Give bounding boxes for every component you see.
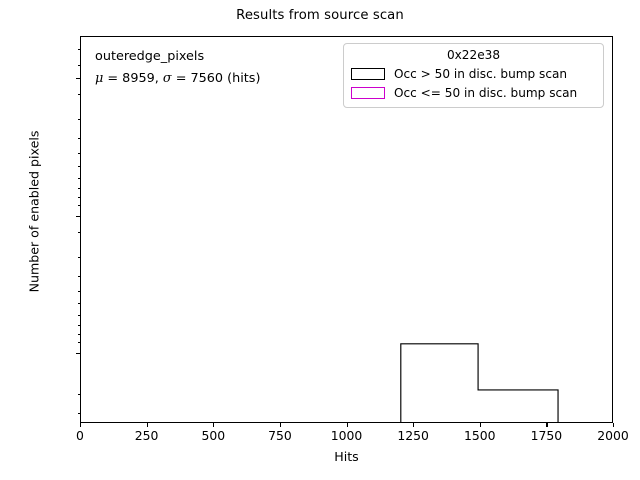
x-major-tick xyxy=(480,423,481,427)
sigma-symbol: σ xyxy=(163,71,172,86)
legend-entry-occ-lte-50[interactable]: Occ <= 50 in disc. bump scan xyxy=(351,83,596,102)
annotation-line-stats: μ = 8959, σ = 7560 (hits) xyxy=(95,68,260,90)
x-major-tick xyxy=(213,423,214,427)
legend-box: 0x22e38 Occ > 50 in disc. bump scan Occ … xyxy=(343,43,604,108)
x-major-tick xyxy=(147,423,148,427)
annotation-block: outeredge_pixels μ = 8959, σ = 7560 (hit… xyxy=(95,46,260,90)
y-axis-label: Number of enabled pixels xyxy=(27,12,42,412)
legend-title: 0x22e38 xyxy=(351,48,596,64)
x-tick-label: 1250 xyxy=(397,428,429,443)
histogram-step-outline xyxy=(401,344,558,423)
legend-label: Occ <= 50 in disc. bump scan xyxy=(394,86,577,100)
annotation-line-name: outeredge_pixels xyxy=(95,46,260,68)
x-tick-label: 250 xyxy=(135,428,159,443)
legend-label: Occ > 50 in disc. bump scan xyxy=(394,67,567,81)
x-tick-label: 1500 xyxy=(464,428,496,443)
mu-value: = 8959, xyxy=(103,71,163,86)
legend-swatch-magenta xyxy=(351,87,385,99)
x-tick-label: 1000 xyxy=(331,428,363,443)
x-tick-label: 750 xyxy=(268,428,292,443)
chart-title: Results from source scan xyxy=(0,8,640,23)
x-tick-label: 500 xyxy=(201,428,225,443)
figure-canvas: Results from source scan Number of enabl… xyxy=(0,0,640,480)
x-tick-label: 1750 xyxy=(531,428,563,443)
x-major-tick xyxy=(347,423,348,427)
x-major-tick xyxy=(546,423,547,427)
x-major-tick xyxy=(80,423,81,427)
x-major-tick xyxy=(280,423,281,427)
legend-entry-occ-gt-50[interactable]: Occ > 50 in disc. bump scan xyxy=(351,64,596,83)
x-axis-label: Hits xyxy=(80,449,613,464)
sigma-value: = 7560 (hits) xyxy=(172,71,261,86)
x-major-tick xyxy=(613,423,614,427)
x-major-tick xyxy=(413,423,414,427)
x-tick-label: 2000 xyxy=(597,428,629,443)
x-tick-label: 0 xyxy=(76,428,84,443)
legend-swatch-black xyxy=(351,68,385,80)
